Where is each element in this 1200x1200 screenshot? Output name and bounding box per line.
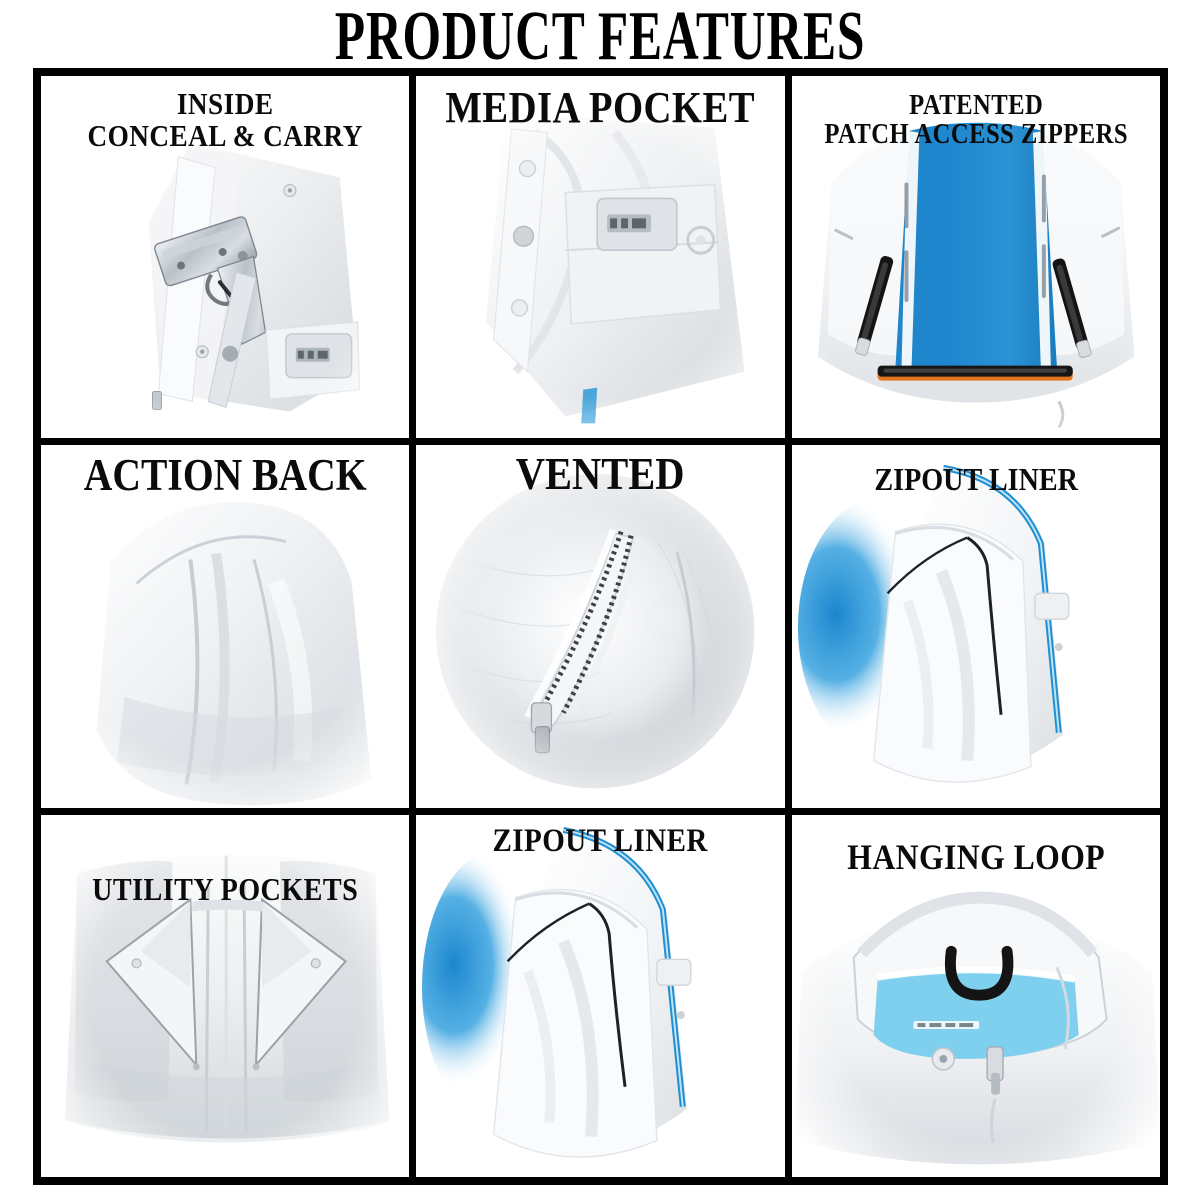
feature-image-action-back	[41, 445, 409, 807]
feature-image-vented	[416, 445, 784, 807]
feature-image-media-pocket	[416, 76, 784, 438]
feature-cell-hanging-loop[interactable]: HANGING LOOP	[792, 815, 1160, 1177]
page-title: PRODUCT FEATURES	[120, 2, 1080, 71]
feature-cell-action-back[interactable]: ACTION BACK	[41, 445, 409, 807]
feature-cell-patch-access-zippers[interactable]: PATENTED PATCH ACCESS ZIPPERS	[792, 76, 1160, 438]
feature-cell-utility-pockets[interactable]: UTILITY POCKETS	[41, 815, 409, 1177]
feature-image-patch-access-zippers	[792, 76, 1160, 438]
feature-cell-media-pocket[interactable]: MEDIA POCKET	[416, 76, 784, 438]
feature-image-zipout-liner-bottom	[416, 815, 784, 1177]
product-features-page: PRODUCT FEATURES	[0, 0, 1200, 1200]
feature-image-inside-conceal-carry	[41, 76, 409, 438]
feature-cell-vented[interactable]: VENTED	[416, 445, 784, 807]
feature-image-utility-pockets	[41, 815, 409, 1177]
feature-cell-inside-conceal-carry[interactable]: INSIDE CONCEAL & CARRY	[41, 76, 409, 438]
feature-cell-zipout-liner-bottom[interactable]: ZIPOUT LINER	[416, 815, 784, 1177]
feature-image-hanging-loop	[792, 815, 1160, 1177]
features-grid: INSIDE CONCEAL & CARRY	[33, 68, 1168, 1185]
feature-cell-zipout-liner-top[interactable]: ZIPOUT LINER	[792, 445, 1160, 807]
feature-image-zipout-liner-top	[792, 445, 1160, 807]
